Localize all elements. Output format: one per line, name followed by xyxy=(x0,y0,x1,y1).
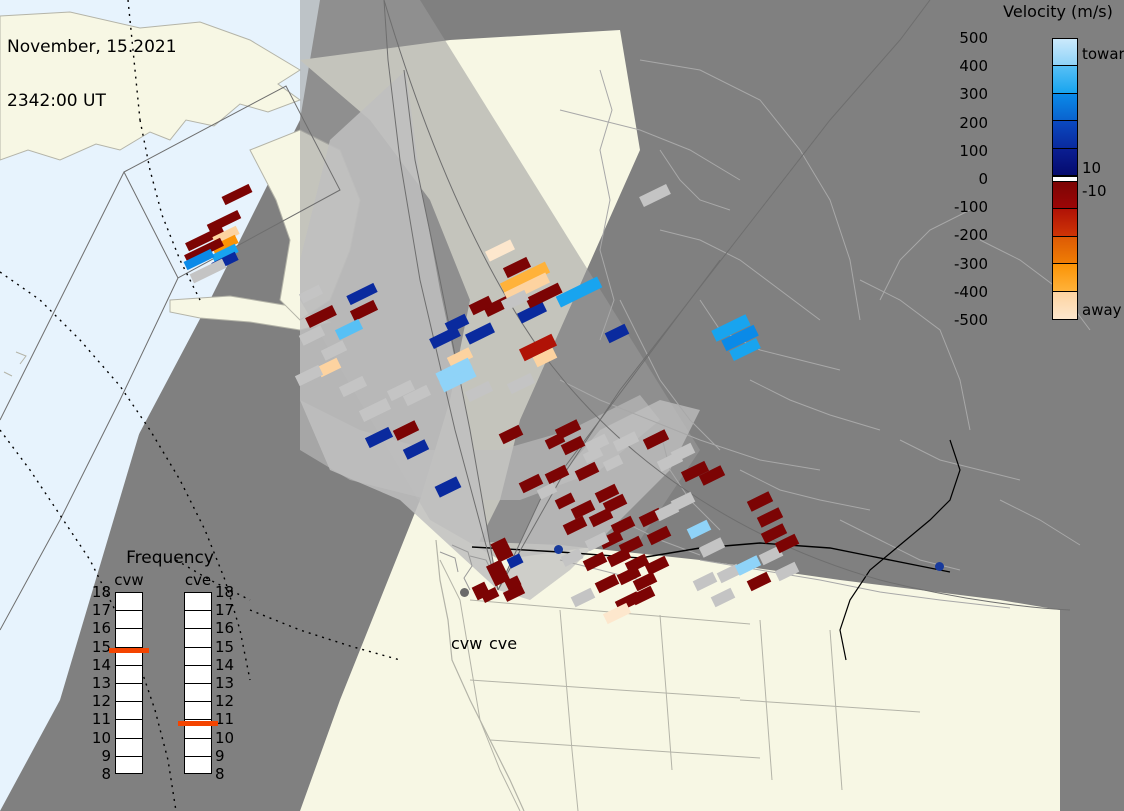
velocity-cell xyxy=(365,427,393,448)
marker-dot-east xyxy=(935,562,944,571)
velocity-cell xyxy=(671,492,696,512)
velocity-cell xyxy=(359,398,391,422)
velocity-cell xyxy=(583,447,604,464)
radar-site-label-cve: cve xyxy=(489,634,517,653)
velocity-cell xyxy=(687,520,712,540)
frequency-tick-label-right: 15 xyxy=(215,638,241,656)
velocity-cell xyxy=(747,572,772,592)
frequency-tick-label-left: 12 xyxy=(85,692,111,710)
velocity-tick-label: -200 xyxy=(928,226,988,244)
colorbar-band xyxy=(1053,121,1077,148)
colorbar-band xyxy=(1053,264,1077,291)
colorbar-band xyxy=(1053,237,1077,264)
away-label: away xyxy=(1082,301,1122,319)
frequency-bar-cvw xyxy=(115,592,143,774)
velocity-cell xyxy=(561,436,586,456)
velocity-cell xyxy=(575,462,600,482)
frequency-segment xyxy=(185,593,211,611)
frequency-tick-label-left: 13 xyxy=(85,674,111,692)
velocity-cell xyxy=(605,324,630,344)
frequency-segment xyxy=(185,757,211,775)
frequency-segment xyxy=(185,648,211,666)
marker-dot-west xyxy=(554,545,563,554)
colorbar-band xyxy=(1053,292,1077,319)
velocity-cell xyxy=(299,285,323,304)
frequency-tick-label-right: 13 xyxy=(215,674,241,692)
frequency-column-header-cvw: cvw xyxy=(106,571,152,589)
radar-site-dot xyxy=(460,588,469,597)
velocity-cell xyxy=(711,588,736,608)
frequency-segment xyxy=(116,666,142,684)
velocity-cell xyxy=(603,455,624,472)
velocity-cell xyxy=(435,476,462,497)
frequency-legend: Frequency cvw cve 18171615141312111098 1… xyxy=(95,545,245,790)
velocity-cell xyxy=(699,537,725,557)
velocity-tick-label: -100 xyxy=(928,198,988,216)
timestamp-date: November, 15.2021 xyxy=(7,38,177,56)
velocity-cell xyxy=(647,526,672,546)
velocity-cell xyxy=(583,552,608,572)
frequency-segment xyxy=(116,684,142,702)
velocity-cell xyxy=(556,277,603,308)
frequency-segment xyxy=(116,593,142,611)
colorbar-band xyxy=(1053,39,1077,66)
frequency-tick-label-left: 18 xyxy=(85,583,111,601)
frequency-tick-label-right: 10 xyxy=(215,729,241,747)
frequency-tick-label-right: 12 xyxy=(215,692,241,710)
timestamp: November, 15.2021 2342:00 UT xyxy=(7,2,177,146)
frequency-tick-label-right: 18 xyxy=(215,583,241,601)
velocity-cell xyxy=(507,373,535,394)
velocity-tick-label: -500 xyxy=(928,311,988,329)
frequency-tick-label-right: 16 xyxy=(215,619,241,637)
velocity-cell xyxy=(671,443,696,463)
frequency-segment xyxy=(185,611,211,629)
velocity-legend-title: Velocity (m/s) xyxy=(992,2,1124,21)
frequency-tick-label-left: 10 xyxy=(85,729,111,747)
frequency-bar-cve xyxy=(184,592,212,774)
frequency-segment xyxy=(185,702,211,720)
velocity-tick-label: -400 xyxy=(928,283,988,301)
frequency-tick-label-left: 15 xyxy=(85,638,111,656)
velocity-cell xyxy=(485,239,515,261)
frequency-segment xyxy=(185,739,211,757)
velocity-tick-label: 400 xyxy=(928,57,988,75)
frequency-segment xyxy=(116,720,142,738)
frequency-segment xyxy=(116,629,142,647)
colorbar-band xyxy=(1053,94,1077,121)
velocity-cell xyxy=(613,431,639,451)
frequency-segment xyxy=(185,666,211,684)
colorbar-band xyxy=(1053,149,1077,176)
velocity-cell xyxy=(603,603,631,624)
frequency-segment xyxy=(116,611,142,629)
velocity-tick-label: 500 xyxy=(928,29,988,47)
frequency-segment xyxy=(116,739,142,757)
velocity-cell xyxy=(305,305,337,328)
gs-upper-label: 10 xyxy=(1082,159,1101,177)
frequency-tick-label-right: 8 xyxy=(215,765,241,783)
velocity-tick-label: -300 xyxy=(928,255,988,273)
frequency-segment xyxy=(116,757,142,775)
frequency-tick-label-right: 17 xyxy=(215,601,241,619)
frequency-tick-label-left: 17 xyxy=(85,601,111,619)
frequency-tick-label-right: 9 xyxy=(215,747,241,765)
velocity-tick-label: 300 xyxy=(928,85,988,103)
frequency-marker-cve xyxy=(178,721,218,726)
frequency-tick-label-left: 16 xyxy=(85,619,111,637)
gs-lower-label: -10 xyxy=(1082,182,1107,200)
frequency-marker-cvw xyxy=(109,648,149,653)
velocity-cell xyxy=(561,548,584,567)
colorbar-band xyxy=(1053,66,1077,93)
velocity-cell xyxy=(571,588,596,608)
radar-site-label-cvw: cvw xyxy=(451,634,482,653)
velocity-cell xyxy=(563,516,588,536)
frequency-segment xyxy=(185,629,211,647)
frequency-legend-title: Frequency xyxy=(95,548,245,568)
velocity-cell xyxy=(639,184,671,207)
velocity-colorbar-legend: Velocity (m/s) 5004003002001000-100-200-… xyxy=(990,0,1124,340)
velocity-cell xyxy=(595,574,620,594)
velocity-cell xyxy=(693,572,718,592)
velocity-cell xyxy=(645,556,670,576)
frequency-tick-label-left: 11 xyxy=(85,710,111,728)
frequency-tick-label-left: 8 xyxy=(85,765,111,783)
velocity-cell xyxy=(465,381,493,402)
velocity-tick-label: 200 xyxy=(928,114,988,132)
radar-map-figure: cvw cve November, 15.2021 2342:00 UT Vel… xyxy=(0,0,1124,811)
frequency-tick-label-left: 14 xyxy=(85,656,111,674)
velocity-cell xyxy=(555,493,576,510)
frequency-tick-label-left: 9 xyxy=(85,747,111,765)
velocity-cell xyxy=(465,322,495,344)
velocity-cell xyxy=(499,425,524,445)
velocity-cell xyxy=(545,465,570,485)
colorbar-band xyxy=(1053,182,1077,209)
velocity-cell xyxy=(747,491,773,511)
velocity-cell xyxy=(643,429,669,449)
velocity-colorbar xyxy=(1052,38,1078,320)
timestamp-time: 2342:00 UT xyxy=(7,92,177,110)
velocity-cell xyxy=(735,555,761,575)
velocity-cell xyxy=(299,325,325,345)
frequency-segment xyxy=(116,702,142,720)
velocity-cell xyxy=(775,562,800,582)
velocity-cell xyxy=(403,439,429,459)
velocity-cell xyxy=(393,420,419,440)
velocity-cell xyxy=(295,365,323,386)
toward-label: toward xyxy=(1082,45,1124,63)
velocity-cell xyxy=(222,184,253,205)
frequency-tick-label-right: 14 xyxy=(215,656,241,674)
velocity-cell xyxy=(339,376,367,397)
frequency-segment xyxy=(185,684,211,702)
frequency-tick-label-right: 11 xyxy=(215,710,241,728)
velocity-tick-label: 0 xyxy=(928,170,988,188)
velocity-cell xyxy=(335,319,363,340)
colorbar-band xyxy=(1053,209,1077,236)
velocity-cell xyxy=(585,532,610,552)
velocity-tick-label: 100 xyxy=(928,142,988,160)
